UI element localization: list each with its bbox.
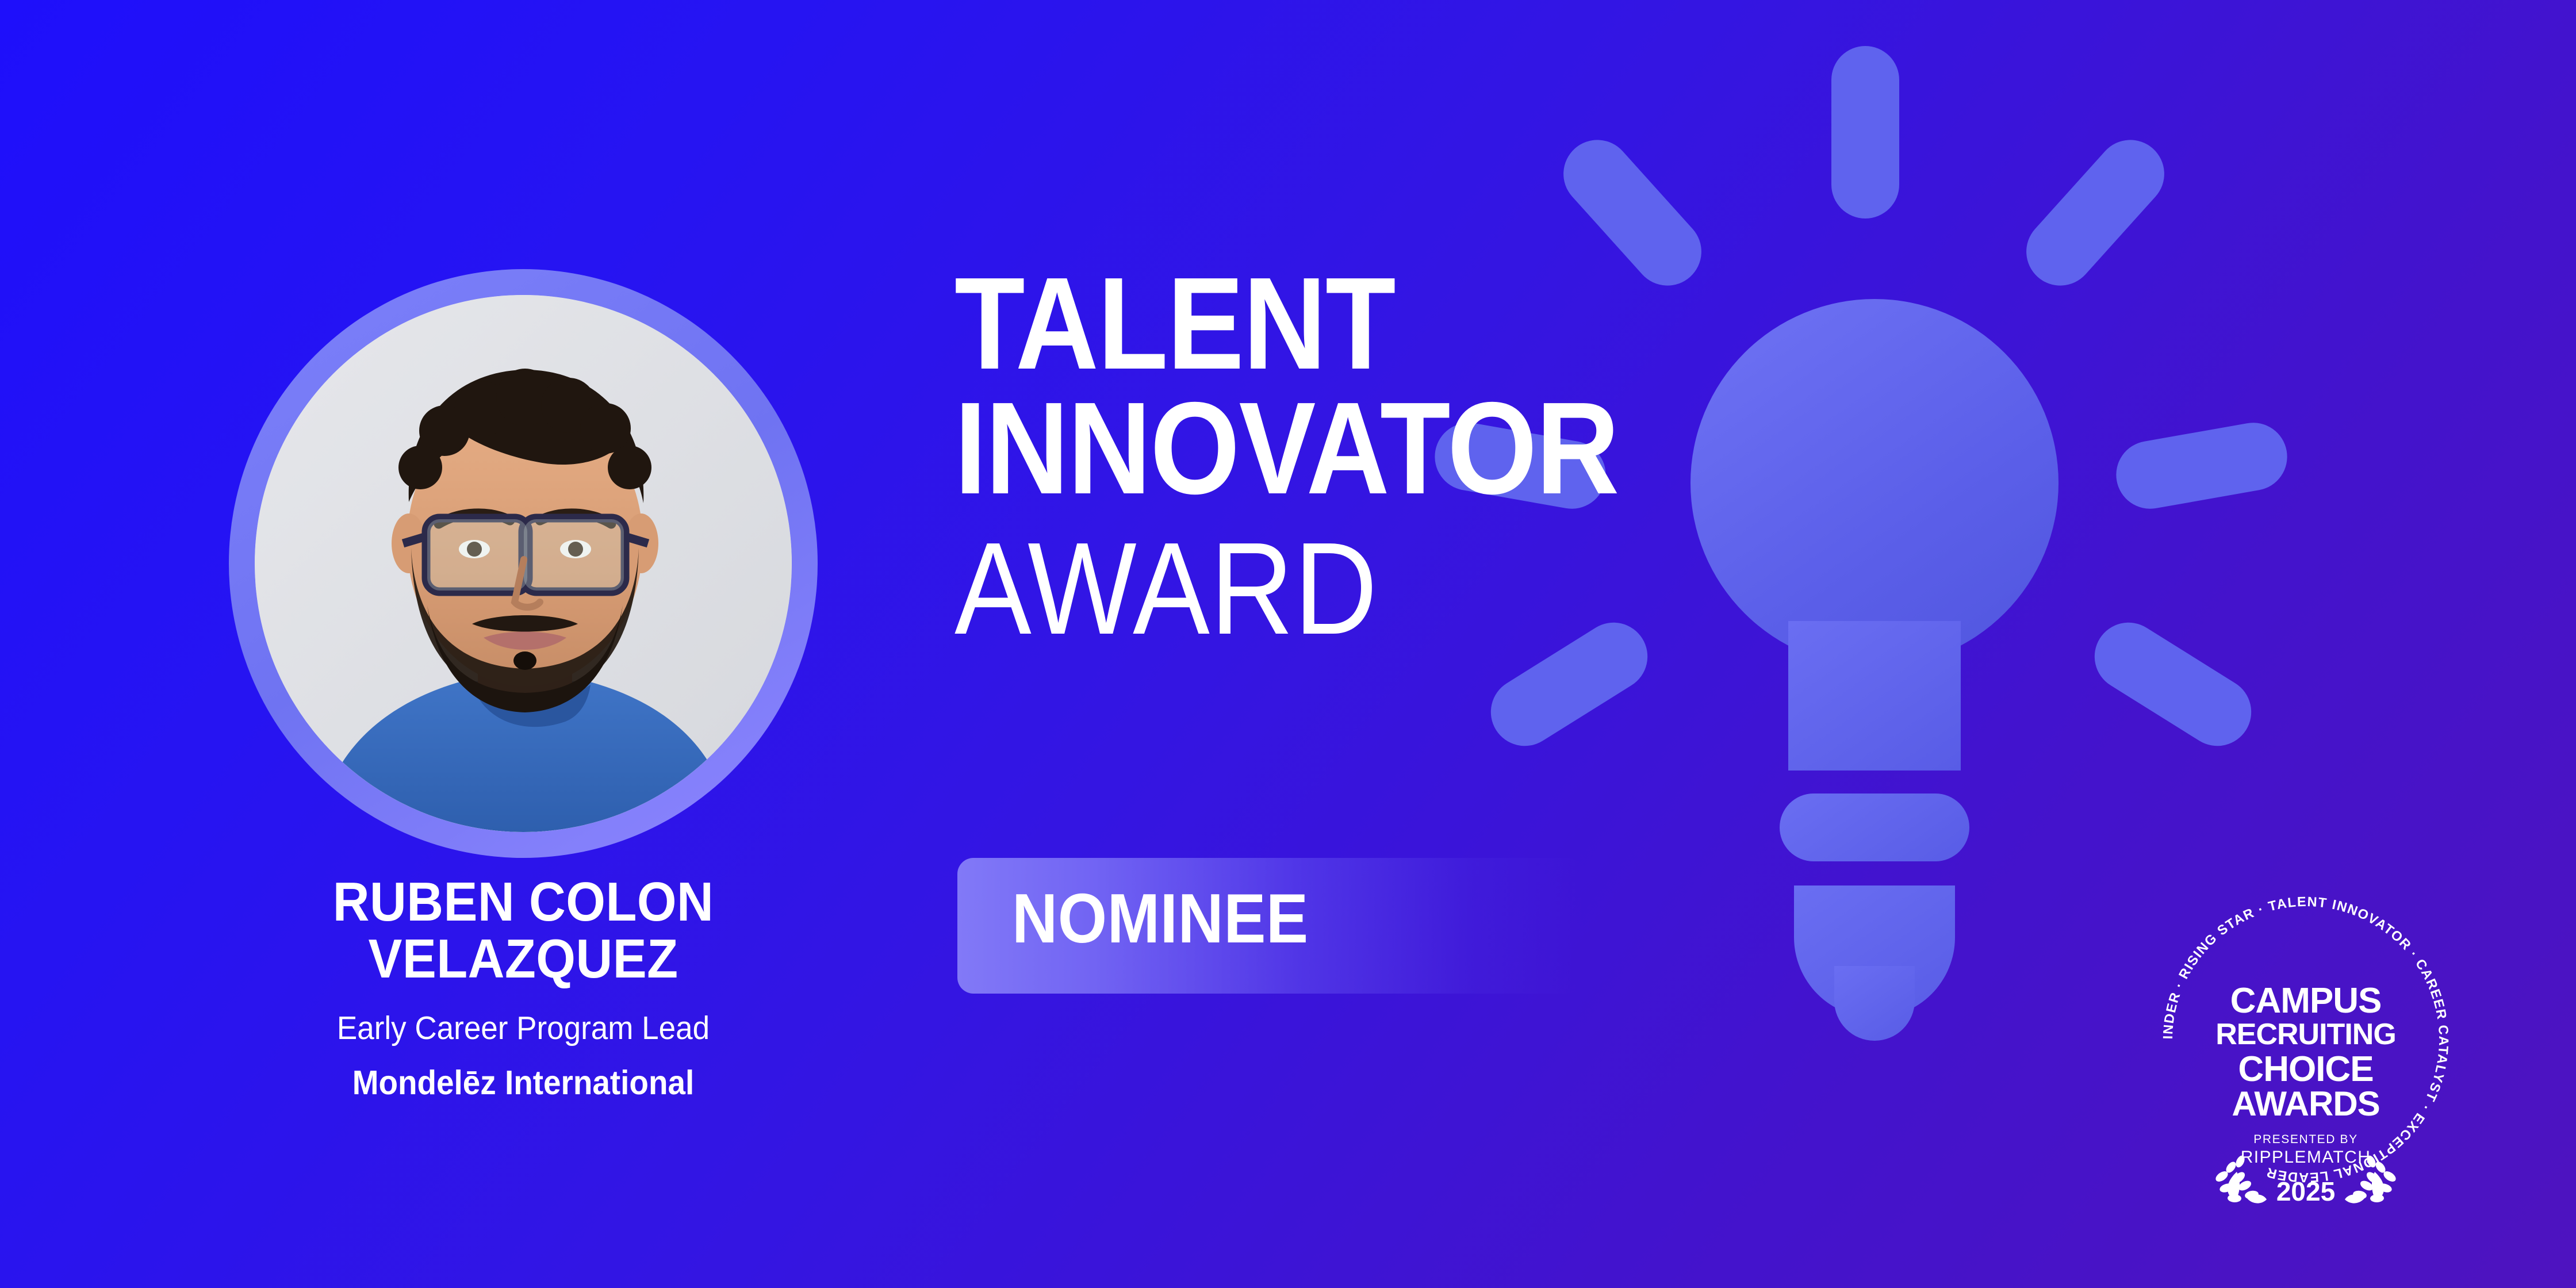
award-title-line-1: TALENT bbox=[954, 262, 1966, 386]
seal-presented-by-label: PRESENTED BY bbox=[2253, 1133, 2357, 1146]
lightbulb-ray-right bbox=[2111, 417, 2293, 514]
seal-presenter: RIPPLEMATCH bbox=[2241, 1148, 2371, 1167]
award-title-line-2: INNOVATOR bbox=[954, 386, 1966, 511]
lightbulb-ray-top bbox=[1831, 46, 1899, 218]
nominee-organization: Mondelēz International bbox=[106, 1063, 941, 1103]
award-title-line-3: AWARD bbox=[954, 523, 1966, 654]
nominee-job-title: Early Career Program Lead bbox=[106, 1009, 941, 1048]
seal-year: 2025 bbox=[2276, 1176, 2335, 1206]
nominee-info: RUBEN COLON VELAZQUEZ Early Career Progr… bbox=[75, 874, 972, 1103]
award-announcement-card: RUBEN COLON VELAZQUEZ Early Career Progr… bbox=[0, 0, 2576, 1288]
avatar-ring bbox=[229, 269, 818, 858]
seal-center-line-4: AWARDS bbox=[2232, 1084, 2379, 1123]
lightbulb-base-tip bbox=[1834, 966, 1915, 1041]
campus-recruiting-choice-awards-seal: PATHFINDER · RISING STAR · TALENT INNOVA… bbox=[2139, 873, 2472, 1206]
seal-center-line-2: RECRUITING bbox=[2215, 1018, 2396, 1051]
seal-center-line-1: CAMPUS bbox=[2230, 981, 2382, 1021]
status-badge-label: NOMINEE bbox=[1012, 883, 1309, 953]
seal-center-line-3: CHOICE bbox=[2238, 1049, 2373, 1089]
lightbulb-base-bar bbox=[1780, 793, 1969, 861]
lightbulb-ray-lower-right bbox=[2082, 609, 2264, 758]
nominee-name-line-1: RUBEN COLON bbox=[110, 874, 936, 931]
nominee-name-line-2: VELAZQUEZ bbox=[110, 931, 936, 988]
avatar bbox=[255, 295, 792, 832]
award-title: TALENT INNOVATOR AWARD bbox=[954, 262, 2104, 654]
